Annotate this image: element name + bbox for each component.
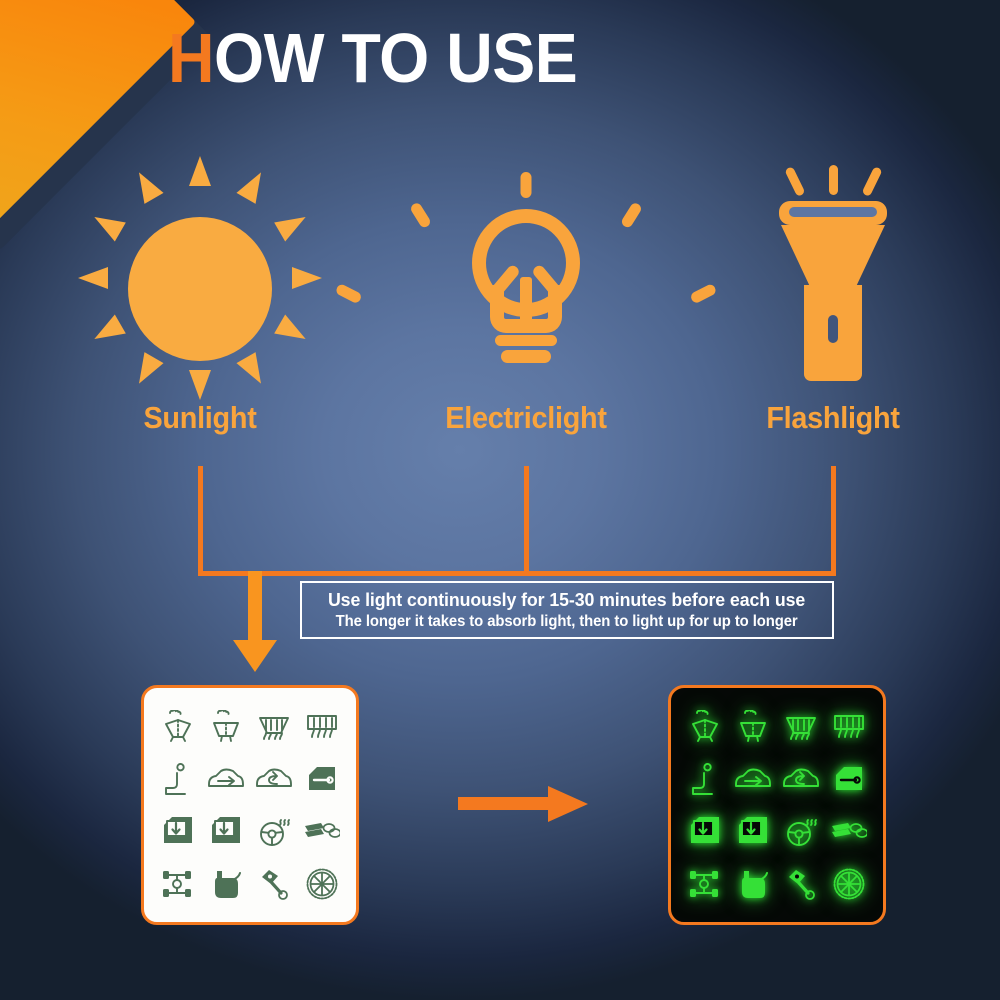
icon-oil-can-icon — [729, 858, 777, 911]
source-flashlight: Flashlight — [683, 155, 983, 436]
flashlight-icon — [683, 155, 983, 400]
icon-seat-icon — [154, 753, 202, 806]
icon-front-defrost-icon — [298, 700, 346, 753]
right-arrow-icon — [548, 786, 588, 822]
icon-piston-icon — [777, 858, 825, 911]
icon-window-front-icon — [154, 805, 202, 858]
icon-piston-icon — [250, 858, 298, 911]
poster-canvas: HOW TO USE Sunlight — [0, 0, 1000, 1000]
source-sunlight: Sunlight — [50, 155, 350, 436]
connector-line-flashlight — [831, 466, 836, 576]
connector-bus — [198, 571, 836, 576]
sticker-sheet-glowing — [668, 685, 886, 925]
down-arrow-icon — [233, 640, 277, 672]
flashlight-lens — [789, 207, 877, 217]
connector-line-electriclight — [524, 466, 529, 576]
icon-windshield-washer-front-icon — [681, 700, 729, 753]
icon-car-air-fresh-icon — [250, 753, 298, 806]
sun-icon — [50, 155, 350, 400]
icon-window-front-icon — [681, 805, 729, 858]
icon-door-lock-icon — [298, 753, 346, 806]
icon-car-air-recirculate-icon — [729, 753, 777, 806]
icon-exhaust-icon — [298, 805, 346, 858]
icon-windshield-washer-rear-icon — [729, 700, 777, 753]
title-accent-letter: H — [168, 19, 214, 97]
source-label-flashlight: Flashlight — [694, 400, 973, 436]
page-title: HOW TO USE — [168, 23, 577, 93]
icon-rear-defrost-icon — [250, 700, 298, 753]
icon-axle-drivetrain-icon — [681, 858, 729, 911]
icon-tire-wheel-icon — [298, 858, 346, 911]
source-label-electriclight: Electriclight — [387, 400, 666, 436]
source-label-sunlight: Sunlight — [61, 400, 340, 436]
right-arrow-shaft — [458, 797, 554, 810]
icon-rear-defrost-icon — [777, 700, 825, 753]
icon-heated-steering-wheel-icon — [777, 805, 825, 858]
icon-car-air-recirculate-icon — [202, 753, 250, 806]
icon-door-lock-icon — [825, 753, 873, 806]
icon-heated-steering-wheel-icon — [250, 805, 298, 858]
instruction-sub-text: The longer it takes to absorb light, the… — [336, 613, 798, 631]
instruction-main-text: Use light continuously for 15-30 minutes… — [328, 589, 805, 611]
icon-front-defrost-icon — [825, 700, 873, 753]
icon-windshield-washer-front-icon — [154, 700, 202, 753]
flashlight-cone — [781, 225, 885, 287]
down-arrow-shaft — [248, 571, 262, 645]
icon-car-air-fresh-icon — [777, 753, 825, 806]
sticker-sheet-unlit — [141, 685, 359, 925]
bulb-base-ring-1 — [495, 335, 557, 346]
icon-window-rear-icon — [202, 805, 250, 858]
title-rest: OW TO USE — [214, 19, 577, 97]
icon-seat-icon — [681, 753, 729, 806]
source-electriclight: Electriclight — [376, 155, 676, 436]
icon-exhaust-icon — [825, 805, 873, 858]
icon-windshield-washer-rear-icon — [202, 700, 250, 753]
bulb-base-ring-2 — [501, 350, 551, 363]
instruction-box: Use light continuously for 15-30 minutes… — [300, 581, 834, 639]
sun-core — [128, 217, 272, 361]
filament-stem — [520, 277, 532, 325]
flashlight-switch — [828, 315, 838, 343]
icon-oil-can-icon — [202, 858, 250, 911]
icon-tire-wheel-icon — [825, 858, 873, 911]
connector-line-sunlight — [198, 466, 203, 576]
icon-window-rear-icon — [729, 805, 777, 858]
lightbulb-icon — [376, 155, 676, 400]
icon-axle-drivetrain-icon — [154, 858, 202, 911]
